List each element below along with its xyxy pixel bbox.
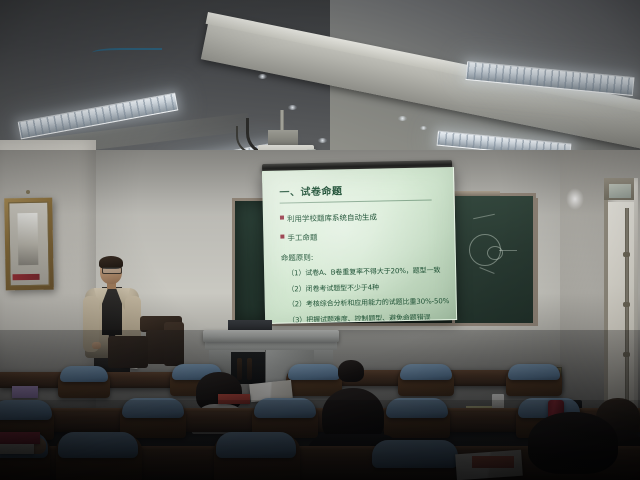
- chair-cushion-r3-c[interactable]: [288, 364, 340, 380]
- frame-caption-band: [13, 274, 40, 280]
- slide-title: 一、试卷命题: [279, 180, 446, 198]
- slide-bullet-1-text: 利用学校题库系统自动生成: [287, 212, 377, 225]
- book-page-color: [472, 456, 514, 468]
- slide-numbered-3: （2）考核综合分析和应用能力的试题比重30%-50%: [288, 296, 449, 309]
- chair-cushion-r3-d[interactable]: [400, 364, 452, 380]
- ceiling-spot-3: [318, 138, 327, 143]
- door-hinge-1: [623, 252, 630, 257]
- student-mid-back: [338, 360, 364, 386]
- back-chair-arm: [164, 322, 184, 366]
- presentation-slide: 一、试卷命题 利用学校题库系统自动生成 手工命题 命题原则: （1）试卷A、B卷…: [263, 168, 456, 323]
- slide-numbered-1: （1）试卷A、B卷重复率不得大于20%，题型一致: [287, 265, 448, 278]
- chalk-drawing-line-1: [499, 250, 517, 251]
- podium-equipment-2: [247, 358, 252, 380]
- slide-subheading: 命题原则:: [281, 249, 448, 263]
- glasses-icon: [102, 267, 122, 274]
- ceiling-spot-4: [398, 116, 407, 121]
- wall-scuff-mark: [566, 188, 584, 210]
- frame-artwork: [18, 213, 39, 266]
- chair-cushion-r3-a[interactable]: [60, 366, 108, 382]
- ceiling-spot-5: [420, 126, 427, 130]
- classroom-photo: 一、试卷命题 利用学校题库系统自动生成 手工命题 命题原则: （1）试卷A、B卷…: [0, 0, 640, 480]
- chalk-drawing-line-3: [479, 267, 494, 274]
- chair-cushion-r2-c[interactable]: [254, 398, 316, 418]
- paper-left: [0, 444, 34, 454]
- chair-cushion-r3-e[interactable]: [508, 364, 560, 380]
- student-hair: [528, 412, 618, 474]
- chair-cushion-r1-b[interactable]: [216, 432, 296, 458]
- chair-cushion-r2-b[interactable]: [122, 398, 184, 418]
- picture-hook: [26, 190, 30, 194]
- podium-worktop: [203, 330, 339, 342]
- door-hinge-3: [623, 352, 630, 357]
- framed-picture-left: [4, 198, 54, 291]
- bullet-square-icon: [280, 235, 284, 239]
- lecturer-hand-left: [92, 342, 101, 349]
- bullet-square-icon: [280, 216, 284, 220]
- chair-cushion-r2-a[interactable]: [0, 400, 52, 420]
- student-hair: [338, 360, 364, 382]
- chair-cushion-r1-a[interactable]: [58, 432, 138, 458]
- podium-shelf: [205, 342, 337, 350]
- doorway-light: [608, 202, 634, 408]
- chalk-drawing-line-2: [473, 214, 495, 220]
- book-purple: [12, 386, 38, 398]
- slide-title-rule: [280, 199, 432, 203]
- slide-bullet-1: 利用学校题库系统自动生成: [280, 210, 447, 224]
- back-chair-body-2[interactable]: [108, 336, 148, 368]
- door-transom-glass: [609, 184, 631, 198]
- door-hinge-2: [623, 302, 630, 307]
- chalkboard-right-panel: [452, 193, 536, 326]
- slide-bullet-2-text: 手工命题: [287, 232, 317, 244]
- projection-screen: 一、试卷命题 利用学校题库系统自动生成 手工命题 命题原则: （1）试卷A、B卷…: [262, 167, 457, 324]
- pen-red: [0, 432, 40, 444]
- ceiling-spot-2: [288, 105, 297, 110]
- slide-bullet-2: 手工命题: [280, 229, 447, 243]
- student-front-right: [528, 412, 618, 480]
- podium-cable: [92, 48, 162, 60]
- book-red: [218, 394, 250, 404]
- chair-cushion-r1-c[interactable]: [372, 440, 458, 468]
- chair-cushion-r2-d[interactable]: [386, 398, 448, 418]
- slide-numbered-2: （2）闭卷考试题型不少于4种: [287, 281, 448, 294]
- chalk-drawing-inner: [487, 246, 503, 260]
- ceiling-spot-1: [258, 74, 267, 79]
- chalk-tray: [452, 191, 500, 196]
